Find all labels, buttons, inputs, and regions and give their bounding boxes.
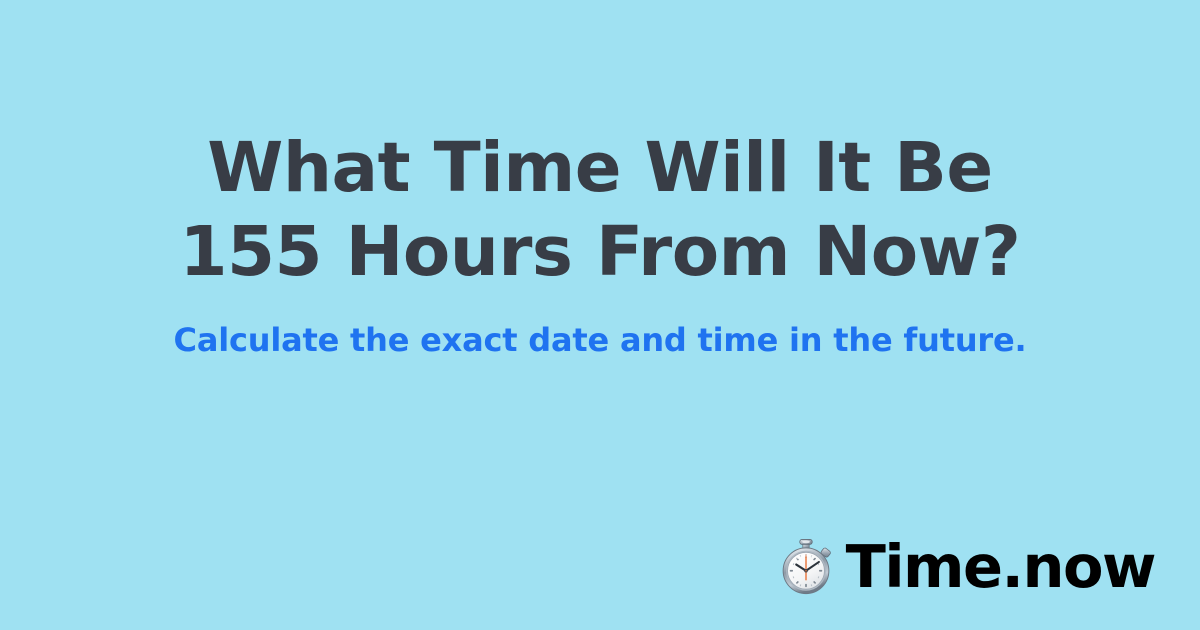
page-title-line-2: 155 Hours From Now? [0, 210, 1200, 294]
page-title-line-1: What Time Will It Be [0, 126, 1200, 210]
page-subtitle: Calculate the exact date and time in the… [0, 294, 1200, 360]
stopwatch-icon [776, 537, 836, 597]
page-title: What Time Will It Be 155 Hours From Now? [0, 126, 1200, 294]
brand-logo: Time.now [776, 537, 1155, 597]
brand-name: Time.now [846, 537, 1155, 597]
hero-section: What Time Will It Be 155 Hours From Now?… [0, 0, 1200, 360]
og-card: What Time Will It Be 155 Hours From Now?… [0, 0, 1200, 630]
